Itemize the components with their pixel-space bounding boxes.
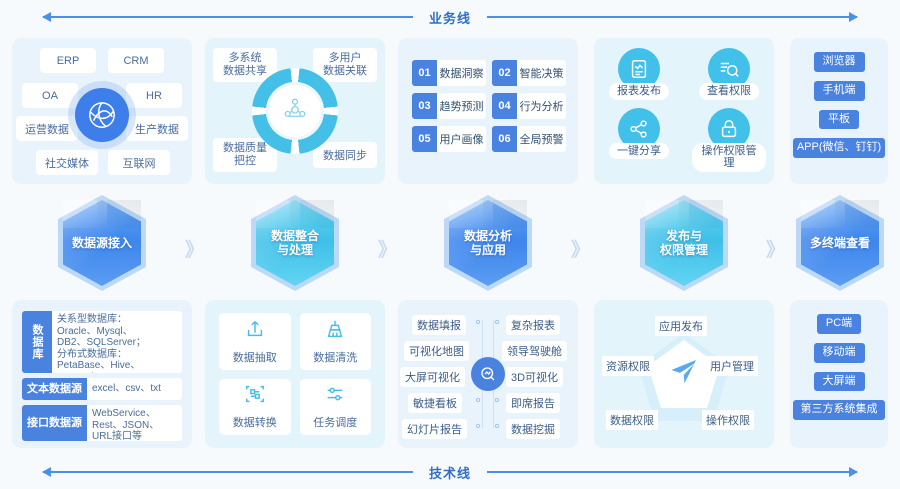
analysis-item-label: 智能决策 (517, 60, 566, 86)
datasource-value: 关系型数据库： Oracle、Mysql、 DB2、SQLServer； 分布式… (52, 311, 182, 373)
publish-item[interactable]: 查看权限 (699, 48, 759, 100)
analysis-item-label: 用户画像 (437, 126, 486, 152)
permission-label[interactable]: 应用发布 (655, 316, 707, 336)
business-line-label: 业务线 (413, 8, 487, 27)
analysis-item[interactable]: 01 数据洞察 (412, 60, 486, 86)
panel-client-terminals: PC端 移动端 大屏端 第三方系统集成 (790, 300, 888, 448)
panel-analysis-capabilities: 数据填报 可视化地图 大屏可视化 敏捷看板 幻灯片报告 复杂报表 领导驾驶舱 3… (398, 300, 578, 448)
processing-card-label: 数据抽取 (233, 349, 277, 365)
sliders-schedule-icon (324, 383, 346, 410)
analysis-item-label: 行为分析 (517, 93, 566, 119)
business-line-axis: 业务线 (0, 0, 900, 34)
transform-icon (244, 383, 266, 410)
network-globe-icon (75, 88, 129, 142)
axis-line-right (487, 16, 857, 18)
publish-item[interactable]: 操作权限管理 (692, 108, 766, 172)
technology-line-label: 技术线 (413, 463, 487, 482)
step-chevron: 》 (571, 235, 586, 262)
analysis-item[interactable]: 02 智能决策 (492, 60, 566, 86)
mindmap-node[interactable]: 复杂报表 (506, 315, 560, 335)
upload-extract-icon (244, 318, 266, 345)
technology-line-axis: 技术线 (0, 455, 900, 489)
analysis-magnifier-icon (471, 357, 505, 391)
publish-item-label: 操作权限管理 (692, 143, 766, 172)
source-tag[interactable]: HR (126, 83, 182, 108)
analysis-item[interactable]: 06 全局预警 (492, 126, 566, 152)
analysis-item-number: 01 (412, 60, 437, 86)
panel-permission-model: 应用发布 资源权限 用户管理 数据权限 操作权限 (594, 300, 774, 448)
mindmap-node[interactable]: 即席报告 (506, 393, 560, 413)
step-label: 数据整合 与处理 (251, 195, 339, 291)
mindmap-node[interactable]: 敏捷看板 (408, 393, 462, 413)
permission-label[interactable]: 操作权限 (702, 410, 754, 430)
publish-item-label: 查看权限 (699, 83, 759, 100)
step-label: 数据源接入 (58, 195, 146, 291)
publish-item[interactable]: 一键分享 (609, 108, 669, 172)
step-chevron: 》 (378, 235, 393, 262)
source-tag[interactable]: 运营数据 (16, 116, 78, 141)
publish-item-label: 报表发布 (609, 83, 669, 100)
axis-line-right (487, 471, 857, 473)
client-terminal-chip[interactable]: 第三方系统集成 (793, 400, 885, 420)
analysis-item[interactable]: 05 用户画像 (412, 126, 486, 152)
analysis-item-number: 06 (492, 126, 517, 152)
panel-data-analysis: 01 数据洞察 02 智能决策 03 趋势预测 04 行为分析 05 用户画像 … (398, 38, 578, 184)
processing-card[interactable]: 数据转换 (219, 379, 291, 436)
datasource-row[interactable]: 文本数据源 excel、csv、txt (22, 378, 182, 400)
analysis-item-number: 04 (492, 93, 517, 119)
mindmap-node[interactable]: 领导驾驶舱 (502, 341, 567, 361)
process-step-row: 数据源接入 》 数据整合 与处理 》 数据分析 与应用 》 发布与 权限管理 》… (0, 195, 900, 291)
step-hexagon[interactable]: 数据整合 与处理 (251, 195, 339, 291)
terminal-chip[interactable]: 浏览器 (814, 52, 865, 72)
analysis-item[interactable]: 03 趋势预测 (412, 93, 486, 119)
analysis-item-number: 05 (412, 126, 437, 152)
terminal-chip[interactable]: 平板 (819, 110, 859, 130)
panel-datasource-types: 数据库 关系型数据库： Oracle、Mysql、 DB2、SQLServer；… (12, 300, 192, 448)
datasource-row[interactable]: 接口数据源 WebService、 Rest、JSON、 URL接口等 (22, 405, 182, 441)
datasource-row[interactable]: 数据库 关系型数据库： Oracle、Mysql、 DB2、SQLServer；… (22, 311, 182, 373)
permission-label[interactable]: 数据权限 (606, 410, 658, 430)
processing-card-label: 任务调度 (313, 414, 357, 430)
broom-clean-icon (324, 318, 346, 345)
analysis-item-label: 趋势预测 (437, 93, 486, 119)
processing-card[interactable]: 数据抽取 (219, 313, 291, 370)
analysis-item-number: 02 (492, 60, 517, 86)
client-terminal-chip[interactable]: 移动端 (814, 343, 865, 363)
source-tag[interactable]: 生产数据 (126, 116, 188, 141)
data-hub-icon (282, 96, 308, 127)
mindmap-node[interactable]: 幻灯片报告 (402, 419, 467, 439)
step-hexagon[interactable]: 数据分析 与应用 (444, 195, 532, 291)
integration-donut (252, 68, 338, 154)
client-terminal-chip[interactable]: 大屏端 (814, 372, 865, 392)
panel-data-sources: ERP CRM OA HR 运营数据 生产数据 社交媒体 互联网 (12, 38, 192, 184)
processing-card[interactable]: 任务调度 (300, 379, 372, 436)
axis-line-left (43, 471, 413, 473)
panel-data-processing: 数据抽取 数据清洗 数据转换 (205, 300, 385, 448)
mindmap-node[interactable]: 数据填报 (412, 315, 466, 335)
datasource-key: 数据库 (22, 311, 52, 373)
permission-label[interactable]: 用户管理 (706, 356, 758, 376)
panel-terminal-access: 浏览器 手机端 平板 APP(微信、钉钉) (790, 38, 888, 184)
step-label: 多终端查看 (796, 195, 884, 291)
step-hexagon[interactable]: 数据源接入 (58, 195, 146, 291)
step-label: 数据分析 与应用 (444, 195, 532, 291)
processing-card-label: 数据清洗 (313, 349, 357, 365)
analysis-item-number: 03 (412, 93, 437, 119)
publish-item[interactable]: 报表发布 (609, 48, 669, 100)
step-chevron: 》 (766, 235, 781, 262)
datasource-value: WebService、 Rest、JSON、 URL接口等 (87, 405, 182, 441)
datasource-key: 接口数据源 (22, 405, 87, 441)
permission-label[interactable]: 资源权限 (602, 356, 654, 376)
datasource-value: excel、csv、txt (87, 378, 182, 400)
step-label: 发布与 权限管理 (640, 195, 728, 291)
source-tag[interactable]: 互联网 (108, 150, 170, 175)
source-tag[interactable]: 社交媒体 (36, 150, 98, 175)
mindmap-node[interactable]: 大屏可视化 (400, 367, 465, 387)
processing-card-label: 数据转换 (233, 414, 277, 430)
source-tag[interactable]: CRM (108, 48, 164, 73)
step-hexagon[interactable]: 多终端查看 (796, 195, 884, 291)
processing-card[interactable]: 数据清洗 (300, 313, 372, 370)
axis-line-left (43, 16, 413, 18)
analysis-item-label: 数据洞察 (437, 60, 486, 86)
datasource-key: 文本数据源 (22, 378, 87, 400)
terminal-chip[interactable]: 手机端 (814, 81, 865, 101)
panel-data-integration: 多系统 数据共享 多用户 数据关联 数据质量 把控 数据同步 (205, 38, 385, 184)
analysis-item-label: 全局预警 (517, 126, 566, 152)
analysis-item[interactable]: 04 行为分析 (492, 93, 566, 119)
mindmap-node[interactable]: 3D可视化 (506, 367, 563, 387)
terminal-chip[interactable]: APP(微信、钉钉) (793, 138, 885, 158)
publish-item-label: 一键分享 (609, 143, 669, 160)
source-tag[interactable]: ERP (40, 48, 96, 73)
step-chevron: 》 (185, 235, 200, 262)
mindmap-node[interactable]: 可视化地图 (404, 341, 469, 361)
client-terminal-chip[interactable]: PC端 (817, 314, 861, 334)
paper-plane-icon (668, 356, 700, 393)
source-tag[interactable]: OA (22, 83, 78, 108)
panel-publish-permissions: 报表发布 查看权限 一键分享 (594, 38, 774, 184)
mindmap-node[interactable]: 数据挖掘 (506, 419, 560, 439)
step-hexagon[interactable]: 发布与 权限管理 (640, 195, 728, 291)
